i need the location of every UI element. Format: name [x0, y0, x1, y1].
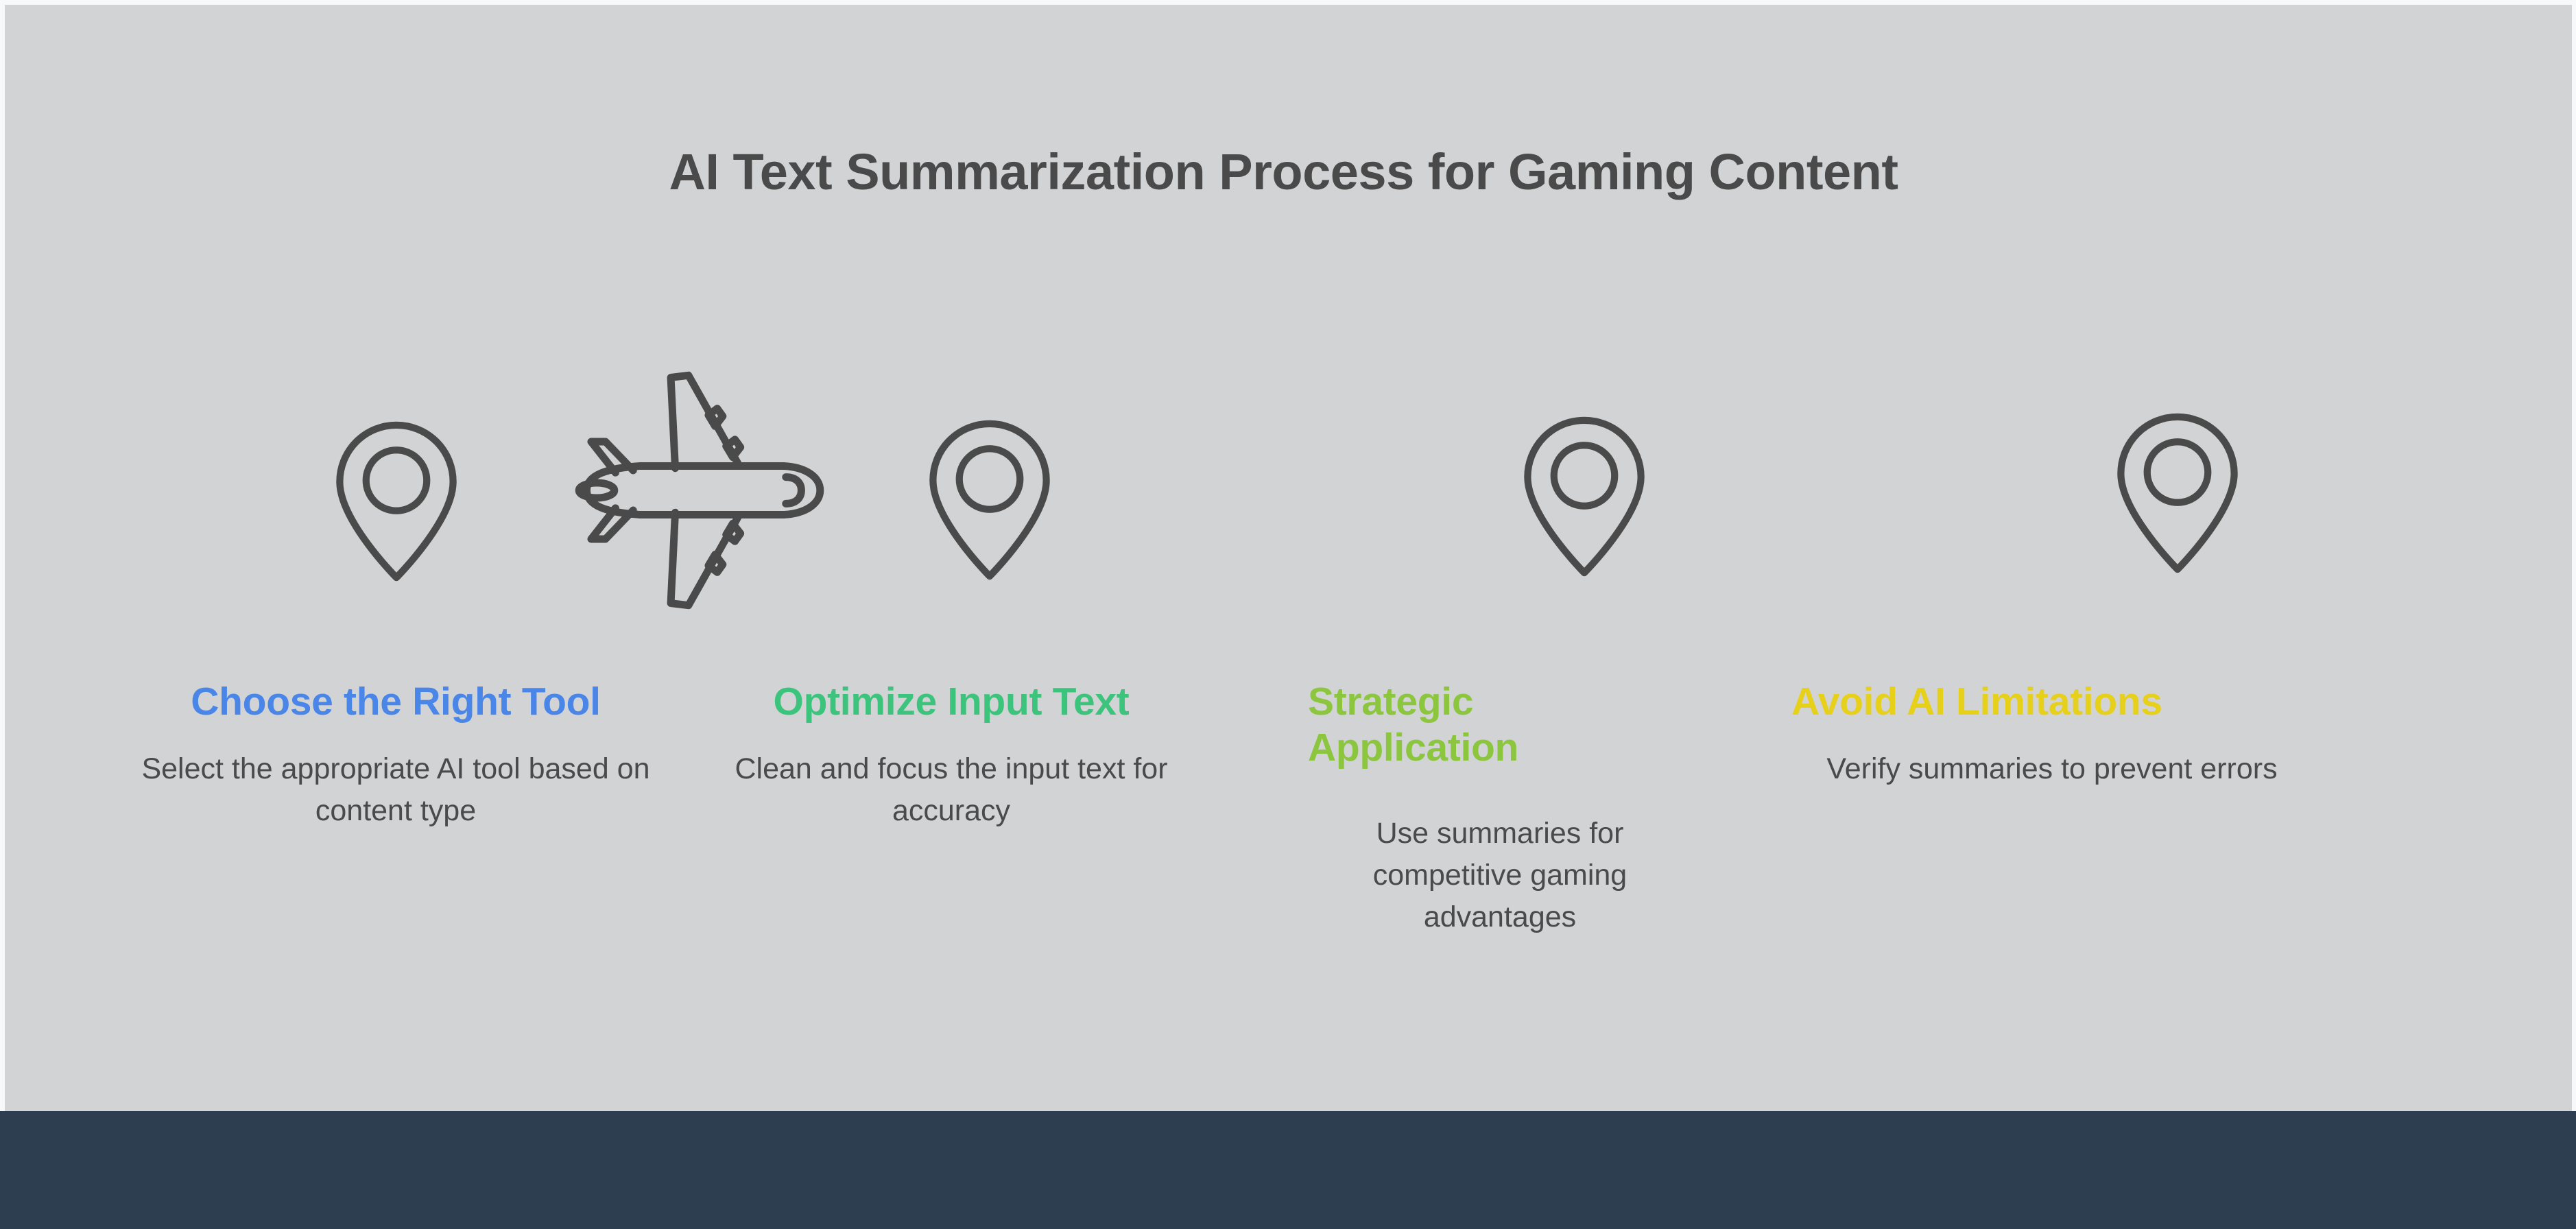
- step-description: Verify summaries to prevent errors: [1791, 748, 2313, 790]
- footer-band: [0, 1111, 2576, 1229]
- step-description: Select the appropriate AI tool based on …: [135, 748, 656, 832]
- step-column-4: Avoid AI Limitations Verify summaries to…: [1791, 679, 2313, 790]
- step-heading: Avoid AI Limitations: [1791, 679, 2313, 725]
- page-title: AI Text Summarization Process for Gaming…: [0, 144, 2567, 200]
- step-description: Use summaries for competitive gaming adv…: [1308, 813, 1692, 938]
- step-heading: Choose the Right Tool: [135, 679, 656, 725]
- step-heading: Strategic Application: [1308, 679, 1692, 772]
- step-column-2: Optimize Input Text Clean and focus the …: [704, 679, 1198, 832]
- step-description: Clean and focus the input text for accur…: [704, 748, 1198, 832]
- step-column-1: Choose the Right Tool Select the appropr…: [135, 679, 656, 832]
- step-heading: Optimize Input Text: [704, 679, 1198, 725]
- infographic-root: AI Text Summarization Process for Gaming…: [0, 0, 2576, 1229]
- step-column-3: Strategic Application Use summaries for …: [1308, 679, 1692, 938]
- steps-row: Choose the Right Tool Select the appropr…: [5, 679, 2572, 938]
